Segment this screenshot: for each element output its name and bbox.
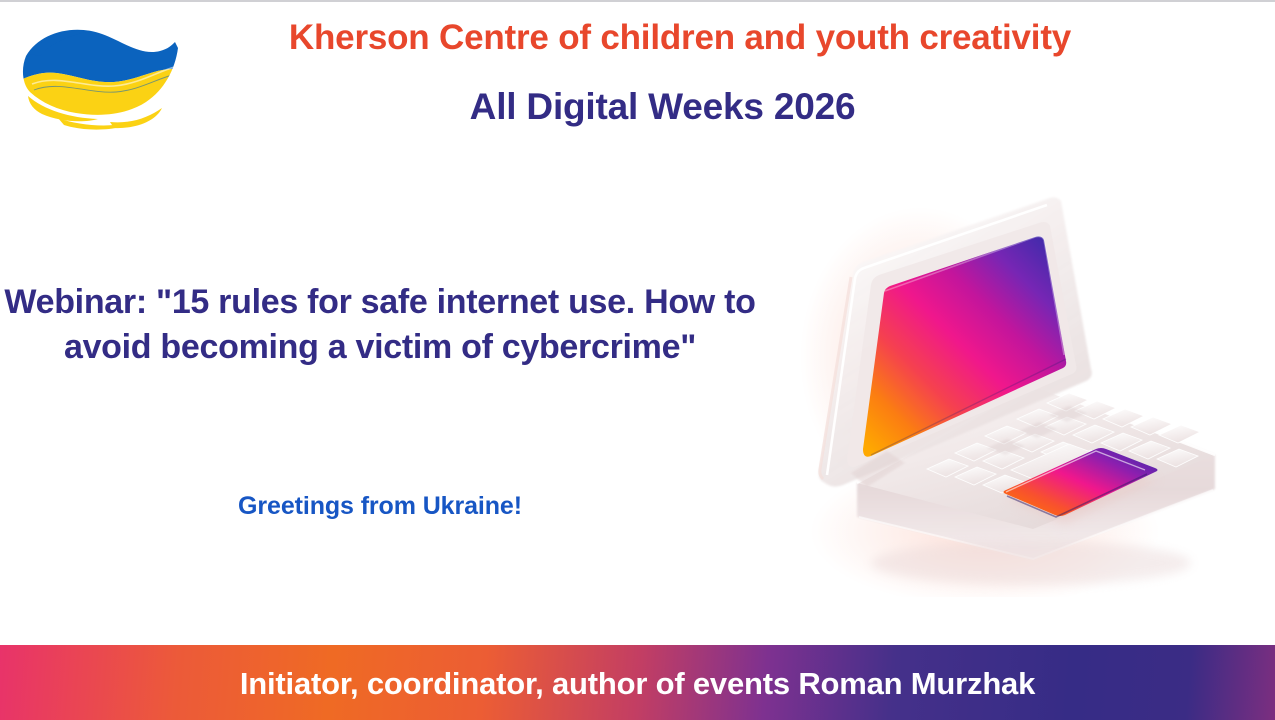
laptop-illustration [795, 187, 1245, 597]
ukraine-flag-icon [14, 18, 186, 138]
organization-title: Kherson Centre of children and youth cre… [200, 18, 1160, 58]
footer-credit-text: Initiator, coordinator, author of events… [240, 666, 1035, 702]
greeting-text: Greetings from Ukraine! [0, 492, 760, 521]
event-title: All Digital Weeks 2026 [200, 86, 1125, 129]
slide-body: Webinar: "15 rules for safe internet use… [0, 152, 800, 622]
webinar-title: Webinar: "15 rules for safe internet use… [0, 280, 760, 370]
footer-bar: Initiator, coordinator, author of events… [0, 645, 1275, 720]
slide-header: Kherson Centre of children and youth cre… [0, 2, 1275, 152]
presentation-slide: Kherson Centre of children and youth cre… [0, 0, 1275, 720]
